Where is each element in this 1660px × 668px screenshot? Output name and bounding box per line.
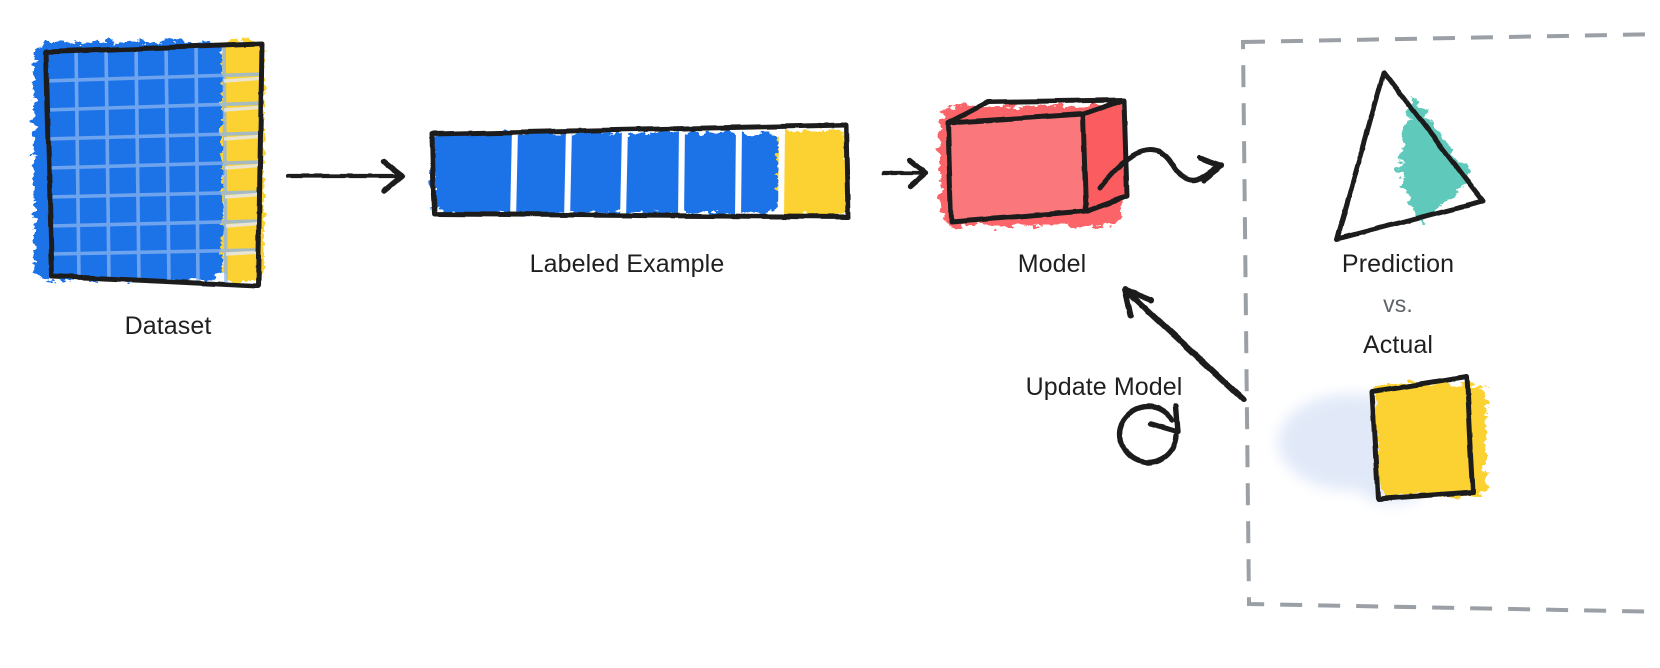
arrow-dataset-to-labeled-example — [288, 162, 402, 191]
prediction-shape — [1337, 72, 1483, 239]
diagram-canvas: Dataset Labeled Example Model Prediction… — [0, 0, 1660, 668]
dataset-node — [34, 40, 266, 286]
labeled-example-blue-fill — [432, 133, 780, 213]
versus-separator-label: vs. — [1383, 291, 1413, 318]
model-label: Model — [1018, 250, 1087, 279]
dataset-label: Dataset — [125, 312, 212, 341]
arrow-labeled-example-to-model — [884, 160, 926, 187]
prediction-label: Prediction — [1342, 250, 1454, 279]
labeled-example-node — [432, 124, 848, 222]
labeled-example-yellow-label-cell — [778, 131, 846, 215]
actual-shape — [1278, 377, 1486, 504]
labeled-example-label: Labeled Example — [530, 250, 725, 279]
model-side-face — [1083, 101, 1126, 211]
evaluation-dashed-region — [1243, 34, 1660, 612]
update-model-label: Update Model — [1026, 373, 1183, 402]
refresh-circular-arrow-icon — [1120, 406, 1178, 462]
model-front-face — [948, 114, 1086, 222]
model-node — [940, 100, 1660, 226]
actual-label: Actual — [1363, 331, 1433, 360]
